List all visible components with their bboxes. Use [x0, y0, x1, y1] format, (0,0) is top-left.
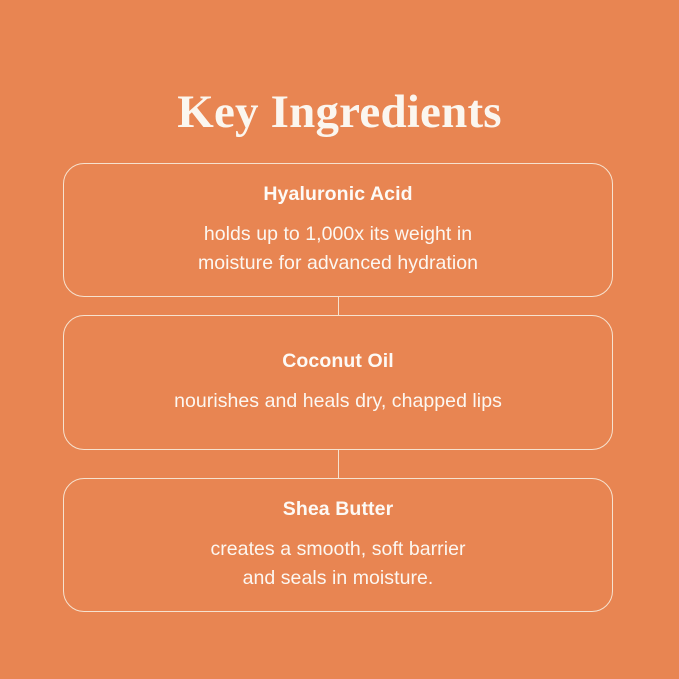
description-line: holds up to 1,000x its weight in — [198, 220, 478, 248]
description-line: creates a smooth, soft barrier — [210, 535, 465, 563]
description-line: moisture for advanced hydration — [198, 249, 478, 277]
description-line: and seals in moisture. — [210, 564, 465, 592]
connector-hyaluronic-to-coconut — [63, 297, 613, 315]
ingredient-description: creates a smooth, soft barrier and seals… — [210, 535, 465, 592]
description-line: nourishes and heals dry, chapped lips — [174, 387, 502, 415]
page-title: Key Ingredients — [0, 87, 679, 139]
ingredient-title: Hyaluronic Acid — [263, 183, 412, 206]
ingredient-card-hyaluronic-acid: Hyaluronic Acid holds up to 1,000x its w… — [63, 163, 613, 297]
connector-line-icon — [338, 297, 339, 315]
ingredient-card-coconut-oil: Coconut Oil nourishes and heals dry, cha… — [63, 315, 613, 450]
ingredient-title: Coconut Oil — [282, 350, 394, 373]
ingredient-description: nourishes and heals dry, chapped lips — [174, 387, 502, 415]
ingredient-title: Shea Butter — [283, 498, 394, 521]
ingredient-card-shea-butter: Shea Butter creates a smooth, soft barri… — [63, 478, 613, 612]
key-ingredients-infographic: Key Ingredients Hyaluronic Acid holds up… — [0, 0, 679, 679]
ingredient-card-stack: Hyaluronic Acid holds up to 1,000x its w… — [63, 163, 613, 612]
ingredient-description: holds up to 1,000x its weight in moistur… — [198, 220, 478, 277]
connector-coconut-to-shea — [63, 450, 613, 478]
connector-line-icon — [338, 450, 339, 478]
